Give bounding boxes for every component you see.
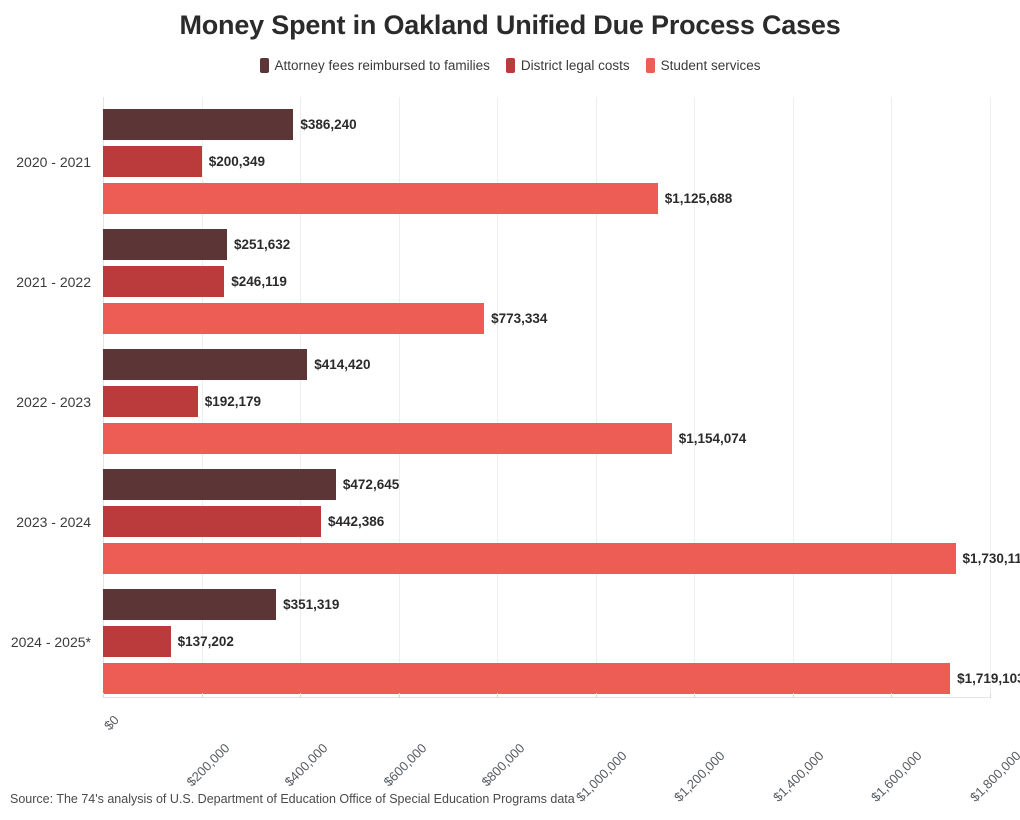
bar-0[interactable] — [103, 469, 336, 500]
bar-row[interactable]: $1,154,074 — [103, 423, 746, 454]
bar-value-label: $1,154,074 — [679, 431, 747, 446]
bar-2[interactable] — [103, 183, 658, 214]
source-note: Source: The 74's analysis of U.S. Depart… — [10, 792, 575, 806]
bar-row[interactable]: $1,719,103 — [103, 663, 1020, 694]
bar-value-label: $200,349 — [209, 154, 265, 169]
x-tick-mark-8 — [891, 693, 892, 698]
x-tick-mark-6 — [694, 693, 695, 698]
bar-value-label: $1,125,688 — [665, 191, 733, 206]
x-tick-mark-4 — [497, 693, 498, 698]
y-axis-labels: 2020 - 20212021 - 20222022 - 20232023 - … — [0, 97, 103, 697]
bar-value-label: $1,719,103 — [957, 671, 1020, 686]
legend-item-1[interactable]: District legal costs — [506, 58, 630, 73]
bar-value-label: $414,420 — [314, 357, 370, 372]
bar-value-label: $251,632 — [234, 237, 290, 252]
bar-value-label: $1,730,113 — [963, 551, 1020, 566]
bar-value-label: $192,179 — [205, 394, 261, 409]
x-tick-label-2: $400,000 — [282, 740, 331, 789]
x-tick-label-0: $0 — [101, 712, 122, 733]
plot-area: $386,240$200,349$1,125,688$251,632$246,1… — [103, 97, 990, 697]
bar-0[interactable] — [103, 229, 227, 260]
bar-group-4: $351,319$137,202$1,719,103 — [103, 589, 990, 695]
bar-0[interactable] — [103, 589, 276, 620]
gridline-9 — [990, 97, 991, 697]
bar-2[interactable] — [103, 663, 950, 694]
legend-swatch-icon — [506, 58, 515, 73]
bar-group-0: $386,240$200,349$1,125,688 — [103, 109, 990, 215]
x-tick-mark-1 — [202, 693, 203, 698]
legend-item-0[interactable]: Attorney fees reimbursed to families — [260, 58, 490, 73]
bar-0[interactable] — [103, 349, 307, 380]
y-axis-label-2: 2022 - 2023 — [16, 394, 91, 410]
x-tick-label-9: $1,800,000 — [967, 748, 1020, 805]
legend-swatch-icon — [646, 58, 655, 73]
bar-row[interactable]: $200,349 — [103, 146, 265, 177]
bar-group-1: $251,632$246,119$773,334 — [103, 229, 990, 335]
bar-value-label: $246,119 — [231, 274, 287, 289]
bar-value-label: $442,386 — [328, 514, 384, 529]
bar-group-3: $472,645$442,386$1,730,113 — [103, 469, 990, 575]
x-tick-mark-2 — [300, 693, 301, 698]
bar-2[interactable] — [103, 423, 672, 454]
bar-row[interactable]: $192,179 — [103, 386, 261, 417]
bar-value-label: $351,319 — [283, 597, 339, 612]
bar-1[interactable] — [103, 506, 321, 537]
bar-row[interactable]: $414,420 — [103, 349, 371, 380]
bar-value-label: $137,202 — [178, 634, 234, 649]
x-tick-label-5: $1,000,000 — [573, 748, 630, 805]
bar-value-label: $472,645 — [343, 477, 399, 492]
x-tick-label-1: $200,000 — [183, 740, 232, 789]
legend-item-2[interactable]: Student services — [646, 58, 761, 73]
bar-1[interactable] — [103, 386, 198, 417]
bar-row[interactable]: $351,319 — [103, 589, 339, 620]
bar-0[interactable] — [103, 109, 293, 140]
bar-row[interactable]: $1,125,688 — [103, 183, 732, 214]
bar-row[interactable]: $386,240 — [103, 109, 357, 140]
chart-legend: Attorney fees reimbursed to familiesDist… — [0, 58, 1020, 73]
x-tick-mark-3 — [399, 693, 400, 698]
bar-value-label: $773,334 — [491, 311, 547, 326]
bar-row[interactable]: $442,386 — [103, 506, 384, 537]
bar-2[interactable] — [103, 303, 484, 334]
x-tick-mark-0 — [103, 693, 104, 698]
y-axis-label-1: 2021 - 2022 — [16, 274, 91, 290]
x-tick-label-8: $1,600,000 — [868, 748, 925, 805]
bar-row[interactable]: $472,645 — [103, 469, 399, 500]
x-tick-mark-5 — [596, 693, 597, 698]
x-tick-mark-9 — [990, 693, 991, 698]
page-title: Money Spent in Oakland Unified Due Proce… — [0, 10, 1020, 41]
bar-row[interactable]: $137,202 — [103, 626, 234, 657]
bar-row[interactable]: $246,119 — [103, 266, 287, 297]
x-tick-label-7: $1,400,000 — [770, 748, 827, 805]
x-tick-label-3: $600,000 — [380, 740, 429, 789]
bar-row[interactable]: $1,730,113 — [103, 543, 1020, 574]
bar-2[interactable] — [103, 543, 956, 574]
bar-row[interactable]: $773,334 — [103, 303, 547, 334]
bar-1[interactable] — [103, 626, 171, 657]
x-axis-tick-labels: $0$200,000$400,000$600,000$800,000$1,000… — [103, 698, 990, 788]
x-tick-mark-7 — [793, 693, 794, 698]
legend-label: Attorney fees reimbursed to families — [275, 58, 490, 73]
bar-row[interactable]: $251,632 — [103, 229, 290, 260]
bar-group-2: $414,420$192,179$1,154,074 — [103, 349, 990, 455]
legend-label: District legal costs — [521, 58, 630, 73]
y-axis-label-0: 2020 - 2021 — [16, 154, 91, 170]
x-tick-label-6: $1,200,000 — [671, 748, 728, 805]
bar-1[interactable] — [103, 266, 224, 297]
legend-label: Student services — [661, 58, 761, 73]
bar-value-label: $386,240 — [300, 117, 356, 132]
y-axis-label-3: 2023 - 2024 — [16, 514, 91, 530]
x-tick-label-4: $800,000 — [479, 740, 528, 789]
y-axis-label-4: 2024 - 2025* — [11, 634, 91, 650]
bar-1[interactable] — [103, 146, 202, 177]
legend-swatch-icon — [260, 58, 269, 73]
